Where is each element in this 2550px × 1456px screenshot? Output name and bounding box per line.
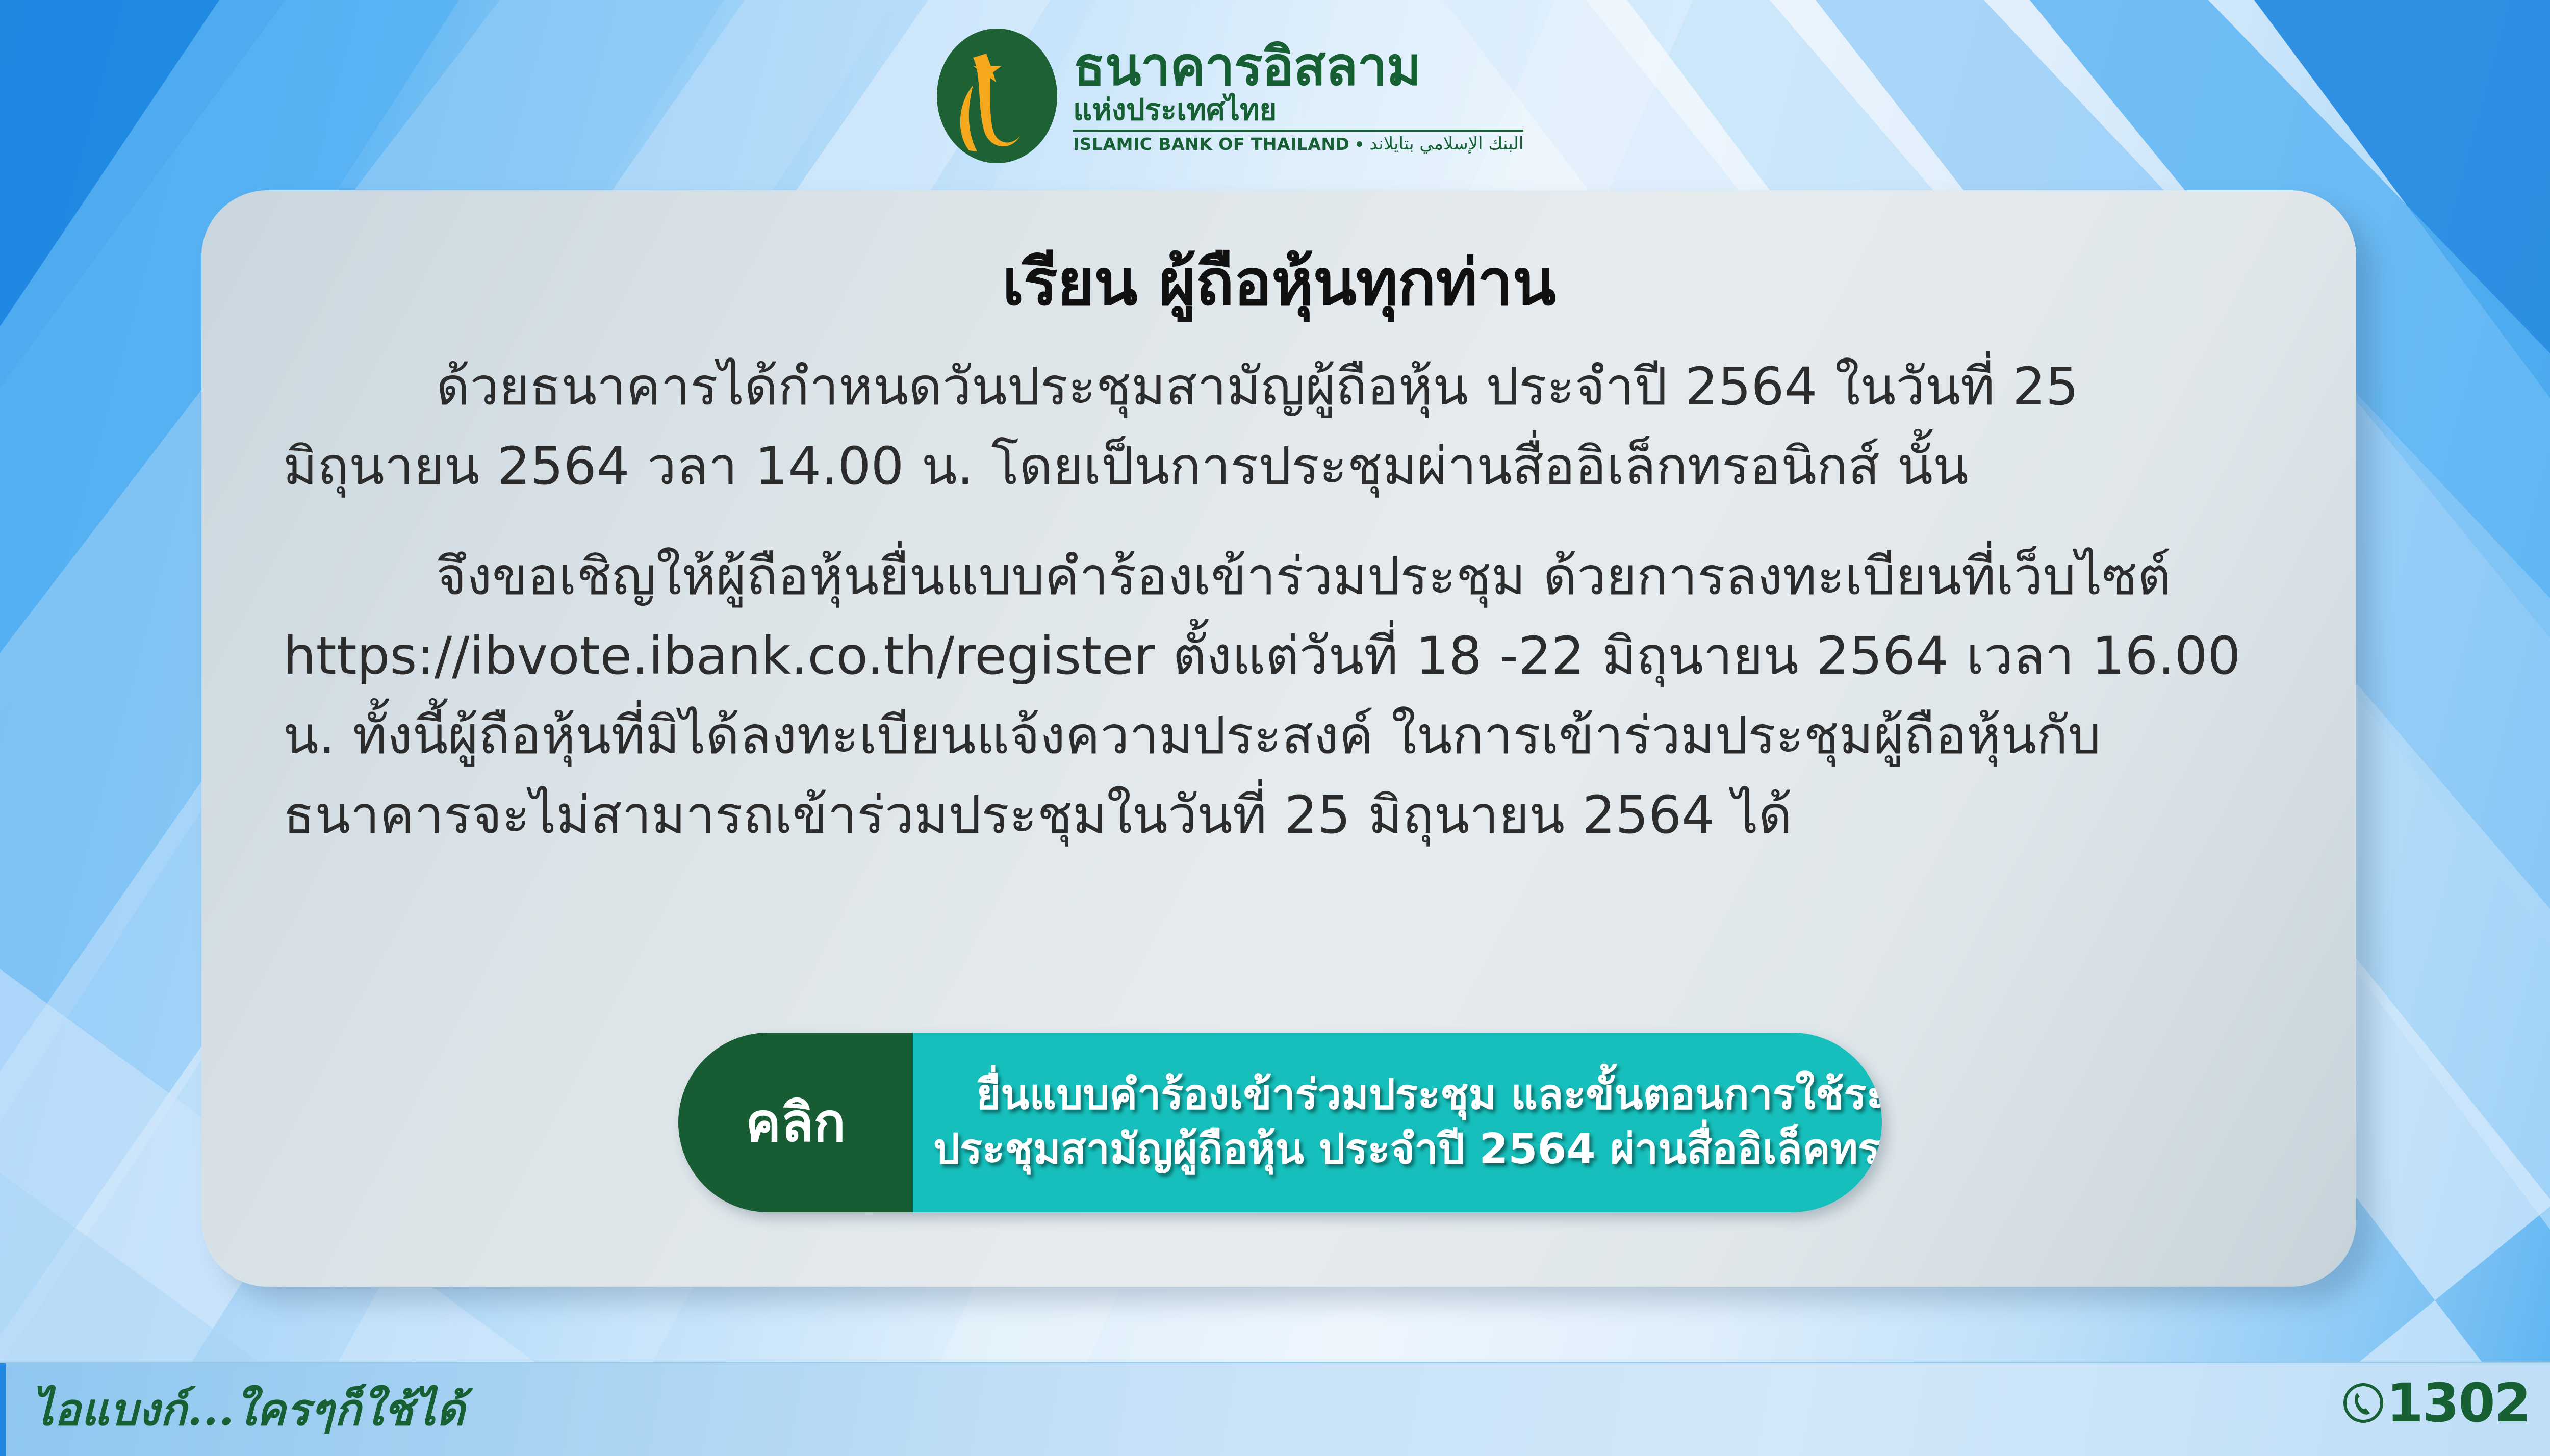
footer-bar: ไอแบงก์...ใครๆก็ใช้ได้ 1302 [0,1362,2550,1456]
logo-bullet-dot [1357,141,1362,147]
announcement-paragraph-2: จึงขอเชิญให้ผู้ถือหุ้นยื่นแบบคำร้องเข้าร… [283,537,2275,855]
register-cta-button[interactable]: คลิก ยื่นแบบคำร้องเข้าร่วมประชุม และขั้น… [678,1033,1882,1212]
poster-canvas: ธนาคารอิสลาม แห่งประเทศไทย ISLAMIC BANK … [0,0,2550,1456]
cta-description[interactable]: ยื่นแบบคำร้องเข้าร่วมประชุม และขั้นตอนกา… [913,1033,1882,1212]
hotline-number: 1302 [2387,1376,2530,1429]
footer-hotline[interactable]: 1302 [2342,1376,2530,1429]
cta-click-badge[interactable]: คลิก [678,1033,913,1212]
page-title: เรียน ผู้ถือหุ้นทุกท่าน [263,247,2295,319]
footer-slogan: ไอแบงก์...ใครๆก็ใช้ได้ [32,1374,465,1444]
announcement-card: เรียน ผู้ถือหุ้นทุกท่าน ด้วยธนาคารได้กำห… [201,190,2356,1287]
announcement-paragraph-1: ด้วยธนาคารได้กำหนดวันประชุมสามัญผู้ถือหุ… [283,347,2275,506]
logo-english-name: ISLAMIC BANK OF THAILAND [1073,136,1349,152]
logo-thai-sub: แห่งประเทศไทย [1073,94,1523,125]
footer-accent-bar [0,1363,6,1456]
logo-divider [1073,130,1523,132]
crescent-star-icon [933,27,1061,165]
cta-click-label: คลิก [746,1096,846,1149]
bank-logo: ธนาคารอิสลาม แห่งประเทศไทย ISLAMIC BANK … [933,19,1561,172]
cta-line-2: ประชุมสามัญผู้ถือหุ้น ประจำปี 2564 ผ่านส… [933,1122,1882,1177]
phone-in-circle-icon [2342,1382,2385,1424]
cta-line-1: ยื่นแบบคำร้องเข้าร่วมประชุม และขั้นตอนกา… [976,1068,1882,1122]
logo-arabic-name: البنك الإسلامي بتايلاند [1369,135,1523,152]
logo-thai-name: ธนาคารอิสลาม [1073,39,1523,93]
